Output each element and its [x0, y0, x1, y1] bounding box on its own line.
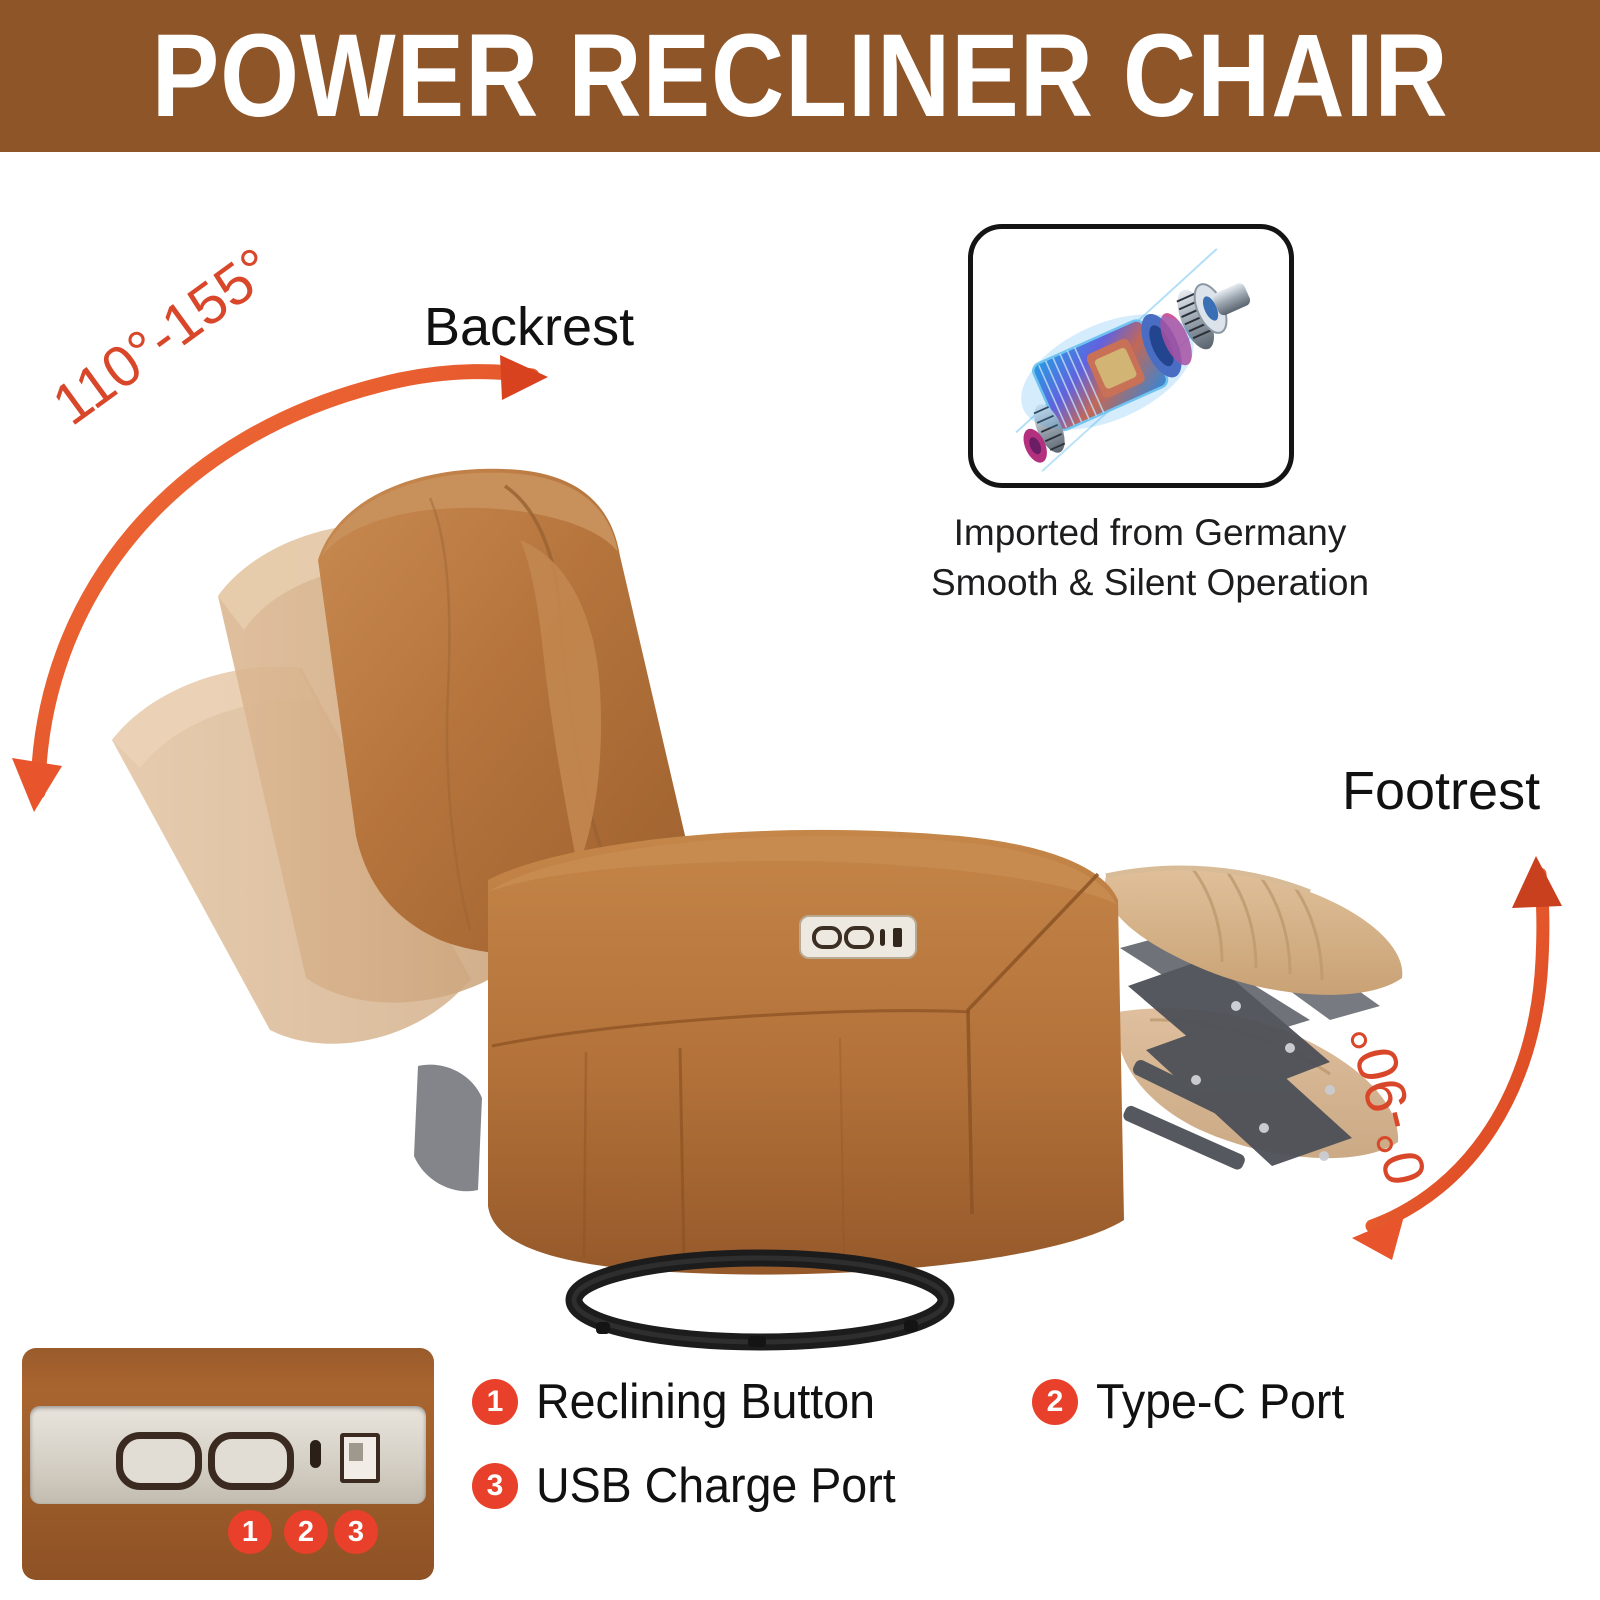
backrest-ghost-2 [218, 524, 520, 1003]
chair-footrest [1105, 868, 1402, 995]
legend-badge-1: 1 [472, 1379, 518, 1425]
chair-seat-and-arm [488, 830, 1124, 1275]
legend-label-2: Type-C Port [1096, 1374, 1344, 1430]
legend-item-usb-charge-port: 3 USB Charge Port [472, 1458, 1032, 1514]
footrest-angle-value: 0°-90° [1336, 1018, 1440, 1192]
page-title: POWER RECLINER CHAIR [151, 17, 1448, 135]
control-strip [30, 1406, 426, 1504]
usb-a-port-icon[interactable] [340, 1433, 380, 1483]
legend-item-reclining-button: 1 Reclining Button [472, 1374, 1032, 1430]
legend-label-1: Reclining Button [536, 1374, 875, 1430]
backrest-label: Backrest [424, 296, 634, 358]
left-mechanism-ghost [414, 1065, 482, 1192]
backrest-ghost-1 [112, 667, 470, 1044]
infographic-root: POWER RECLINER CHAIR [0, 0, 1600, 1600]
legend-row-2: 3 USB Charge Port [472, 1458, 1532, 1514]
legend-row-1: 1 Reclining Button 2 Type-C Port [472, 1374, 1532, 1430]
motor-cutaway-icon [973, 229, 1289, 483]
backrest-angle-value: 110°-155° [40, 235, 286, 439]
header-banner: POWER RECLINER CHAIR [0, 0, 1600, 152]
motor-feature-card [968, 224, 1294, 488]
type-c-port-icon[interactable] [310, 1440, 321, 1468]
legend-badge-2: 2 [1032, 1379, 1078, 1425]
chair-backrest [318, 469, 700, 955]
legend-label-3: USB Charge Port [536, 1458, 896, 1514]
motor-caption-line-2: Smooth & Silent Operation [840, 558, 1460, 608]
inset-marker-2: 2 [284, 1510, 328, 1554]
swivel-base [574, 1258, 946, 1347]
motor-feature-caption: Imported from Germany Smooth & Silent Op… [840, 508, 1460, 608]
legend-badge-3: 3 [472, 1463, 518, 1509]
oval-button-2[interactable] [208, 1432, 294, 1490]
legend-item-type-c-port: 2 Type-C Port [1032, 1374, 1357, 1430]
legend: 1 Reclining Button 2 Type-C Port 3 USB C… [472, 1374, 1532, 1542]
control-panel-inset: 1 2 3 [22, 1348, 434, 1580]
inset-marker-1: 1 [228, 1510, 272, 1554]
oval-button-1[interactable] [116, 1432, 202, 1490]
recliner-control-panel[interactable] [800, 916, 916, 958]
motor-caption-line-1: Imported from Germany [840, 508, 1460, 558]
footrest-label: Footrest [1342, 760, 1540, 822]
inset-marker-3: 3 [334, 1510, 378, 1554]
